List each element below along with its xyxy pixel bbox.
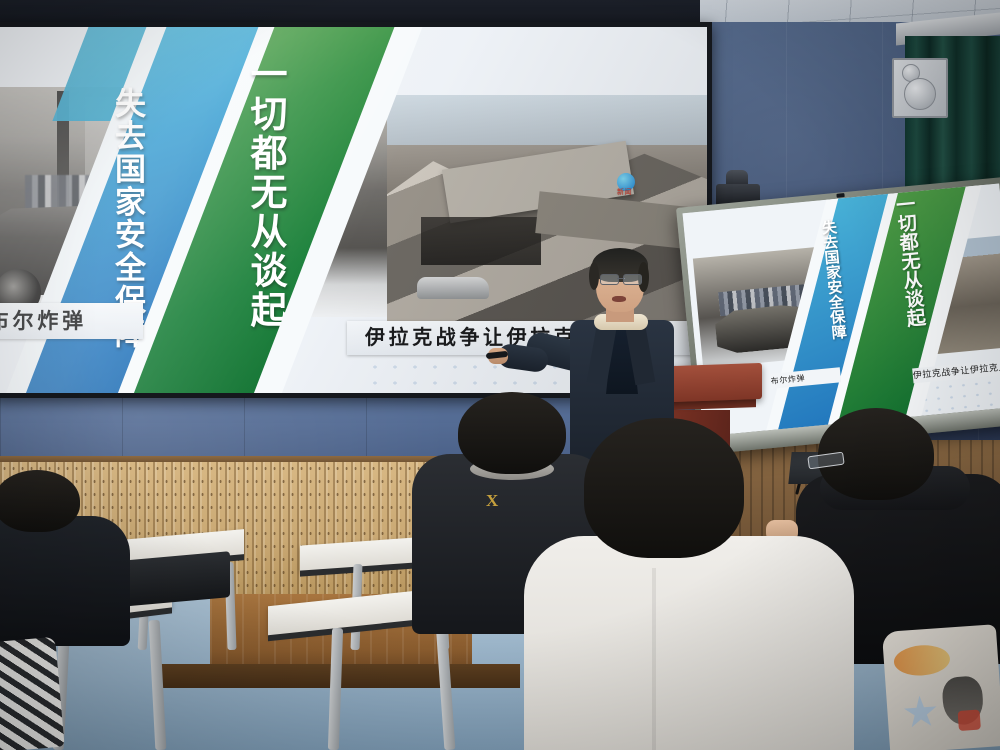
screenshot-root: 新闻 失去国家安全保障 一切都无从谈起 客布尔炸弹 伊拉克战争让伊拉克人 <box>0 0 1000 750</box>
wall-speaker <box>892 58 948 118</box>
plaid-bag <box>0 637 65 750</box>
bag-print-red-shape <box>958 710 981 731</box>
cartoon-print-bag <box>882 624 1000 750</box>
watermark-label: 新闻 <box>617 187 632 197</box>
photo-sky <box>387 95 707 145</box>
student-left-back <box>0 470 130 640</box>
student-head <box>0 470 80 532</box>
uniform-emblem: X <box>486 492 504 510</box>
photo-parked-car <box>417 277 489 299</box>
student-shirt-seam <box>652 568 656 750</box>
student-head <box>584 418 744 558</box>
bag-print-blob-1 <box>893 643 951 677</box>
photo-dark-window <box>421 217 541 265</box>
chair <box>120 551 230 607</box>
presenter-hair-side-left <box>589 262 599 290</box>
tv-blue-band-text: 失去国家安全保障 <box>817 219 849 340</box>
glasses-lens-right <box>623 274 642 285</box>
tv-green-band-text: 一切都无从谈起 <box>889 193 928 328</box>
presenter-mouth <box>612 296 626 302</box>
student-front-white <box>534 418 844 750</box>
slide-green-band-text: 一切都无从谈起 <box>237 55 291 330</box>
student-body <box>524 536 854 750</box>
glasses-lens-left <box>600 274 619 285</box>
slide-watermark: 新闻 <box>617 173 659 199</box>
glasses-icon <box>600 274 642 283</box>
student-body <box>0 516 130 646</box>
speaker-woofer <box>904 78 936 110</box>
bag-print-star <box>902 694 938 730</box>
slide-caption-left: 客布尔炸弹 <box>0 303 143 339</box>
